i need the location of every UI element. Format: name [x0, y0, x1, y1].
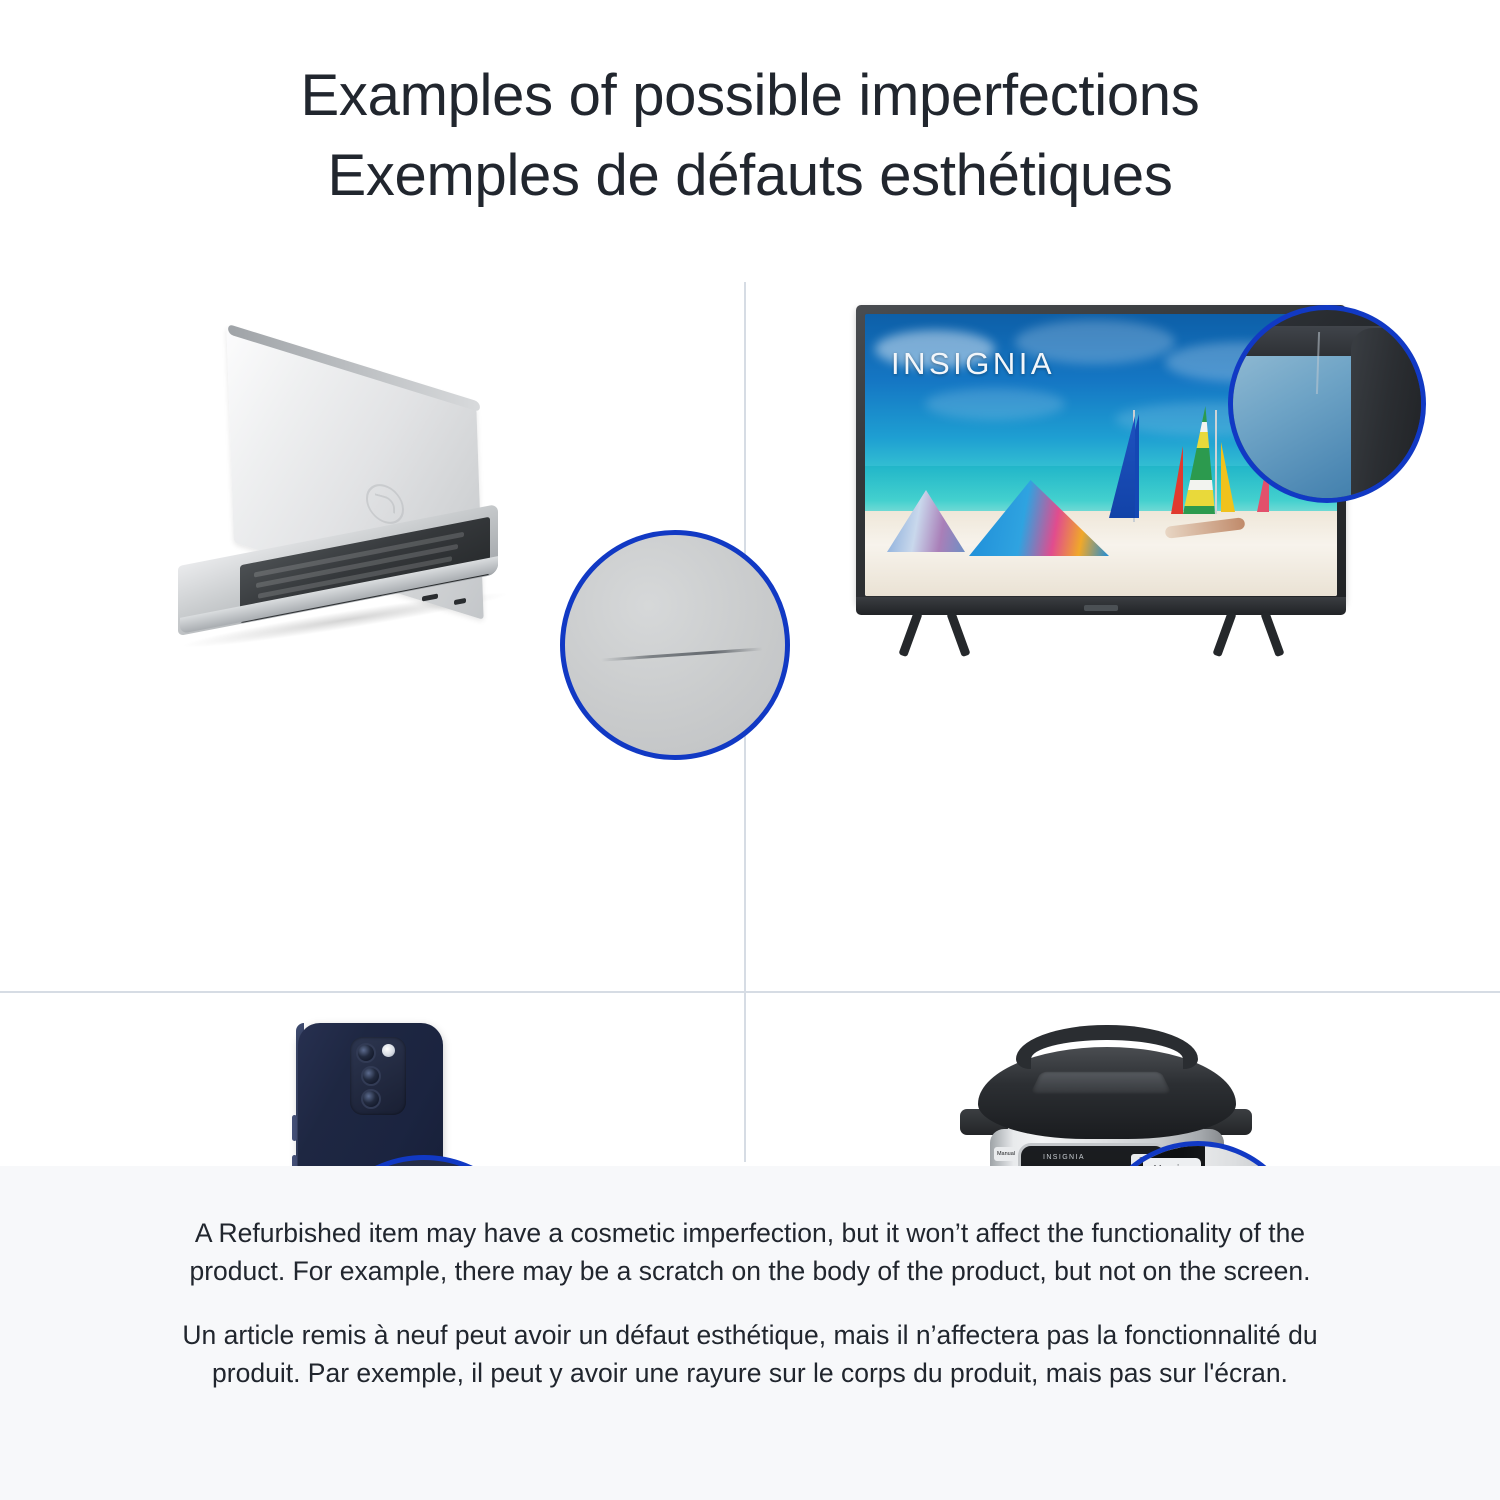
laptop-scratch-mark: [601, 647, 763, 661]
phone-camera-lens-1-icon: [356, 1043, 376, 1063]
tv-leg-left: [902, 611, 982, 659]
tv-illustration: INSIGNIA: [856, 305, 1356, 665]
cooker-handle: [1016, 1025, 1198, 1069]
refurbished-imperfections-infographic: Examples of possible imperfections Exemp…: [0, 0, 1500, 1500]
product-examples-grid: INSIGNIA: [0, 270, 1500, 1160]
footer-paragraph-english: A Refurbished item may have a cosmetic i…: [180, 1214, 1320, 1290]
panel-smartphone: [0, 993, 744, 1160]
title-line-english: Examples of possible imperfections: [0, 56, 1500, 136]
tv-sailboat-mast-2: [1215, 410, 1217, 514]
phone-camera-module: [350, 1037, 406, 1115]
page-title: Examples of possible imperfections Exemp…: [0, 56, 1500, 216]
tv-magnified-corner-bezel: [1351, 328, 1426, 503]
footer-copy: A Refurbished item may have a cosmetic i…: [180, 1214, 1320, 1392]
phone-camera-flash-icon: [382, 1044, 395, 1057]
laptop-illustration: [170, 365, 530, 655]
tv-logo-plate-icon: [1084, 605, 1118, 611]
panel-laptop: [0, 270, 744, 991]
cooker-brand-label: INSIGNIA: [1043, 1154, 1085, 1161]
title-line-french: Exemples de défauts esthétiques: [0, 136, 1500, 216]
tv-magnified-screen: [1228, 356, 1365, 503]
panel-television: INSIGNIA: [746, 270, 1500, 991]
phone-volume-button: [292, 1115, 297, 1141]
tv-brand-logo: INSIGNIA: [891, 346, 1055, 382]
tv-magnifier-circle: [1228, 305, 1426, 503]
footer-paragraph-french: Un article remis à neuf peut avoir un dé…: [180, 1316, 1320, 1392]
cooker-lid-vent: [1030, 1072, 1172, 1094]
phone-camera-lens-3-icon: [361, 1089, 381, 1109]
panel-pressure-cooker: Manual Rice SlowCook Soup Stew Poultry I…: [746, 993, 1500, 1160]
footer-panel: A Refurbished item may have a cosmetic i…: [0, 1166, 1500, 1500]
phone-camera-lens-2-icon: [361, 1066, 381, 1086]
tv-leg-right: [1216, 611, 1296, 659]
